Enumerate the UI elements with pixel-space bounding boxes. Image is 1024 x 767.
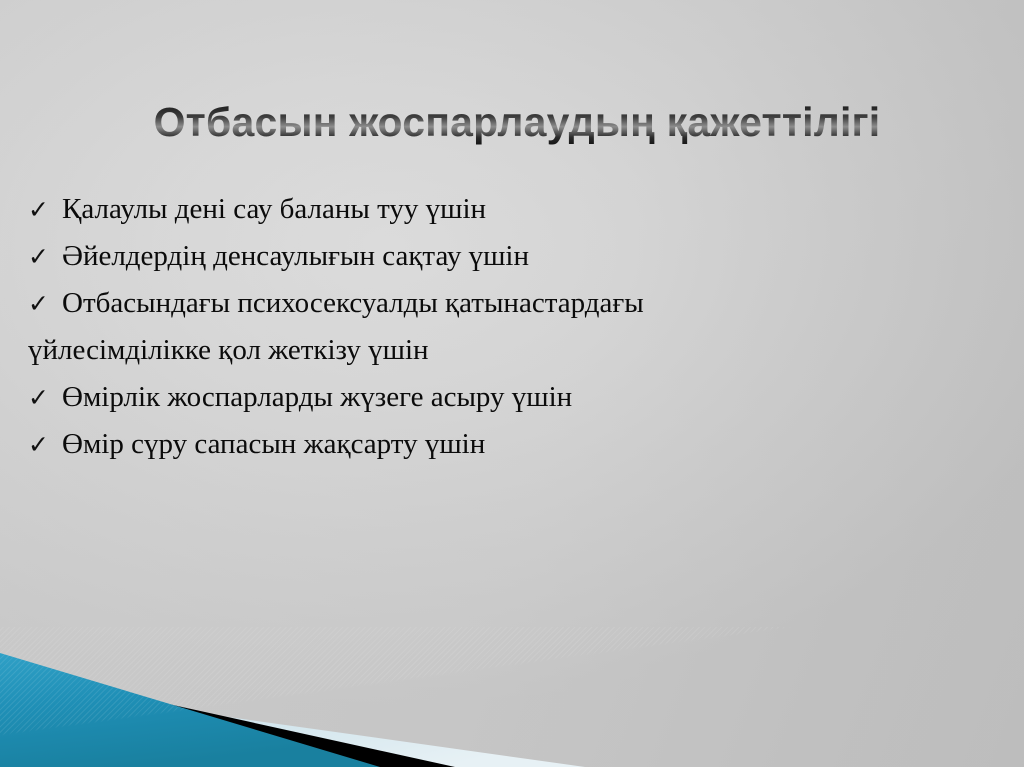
check-icon: ✓ bbox=[28, 233, 62, 280]
list-item-continuation: үйлесімділікке қол жеткізу үшін bbox=[28, 327, 988, 374]
list-item: ✓Отбасындағы психосексуалды қатынастарда… bbox=[28, 280, 988, 327]
pale-blue-wedge-shape bbox=[0, 685, 585, 767]
slide-canvas: Отбасын жоспарлаудың қажеттілігі ✓Қалаул… bbox=[0, 0, 1024, 767]
list-item-label-continued: үйлесімділікке қол жеткізу үшін bbox=[28, 334, 429, 366]
page-title: Отбасын жоспарлаудың қажеттілігі bbox=[52, 92, 982, 152]
check-icon: ✓ bbox=[28, 186, 62, 233]
list-item-label: Қалаулы дені сау баланы туу үшін bbox=[62, 193, 486, 225]
list-item: ✓Өмірлік жоспарларды жүзеге асыру үшін bbox=[28, 374, 988, 421]
list-item: ✓Әйелдердің денсаулығын сақтау үшін bbox=[28, 233, 988, 280]
list-item: ✓Қалаулы дені сау баланы туу үшін bbox=[28, 186, 988, 233]
black-diagonal-stripe bbox=[0, 667, 455, 767]
check-icon: ✓ bbox=[28, 374, 62, 421]
content-placeholder: ✓Қалаулы дені сау баланы туу үшін ✓Әйелд… bbox=[28, 186, 988, 468]
footer-decoration bbox=[0, 627, 1024, 767]
title-placeholder: Отбасын жоспарлаудың қажеттілігі bbox=[52, 92, 982, 154]
list-item-label: Әйелдердің денсаулығын сақтау үшін bbox=[62, 240, 529, 272]
check-icon: ✓ bbox=[28, 421, 62, 468]
list-item-label: Өмір сүру сапасын жақсарту үшін bbox=[62, 428, 485, 460]
teal-wedge-shape bbox=[0, 653, 380, 767]
list-item-label: Өмірлік жоспарларды жүзеге асыру үшін bbox=[62, 381, 572, 413]
list-item: ✓Өмір сүру сапасын жақсарту үшін bbox=[28, 421, 988, 468]
check-icon: ✓ bbox=[28, 280, 62, 327]
teal-texture-overlay bbox=[0, 627, 1024, 767]
list-item-label: Отбасындағы психосексуалды қатынастардағ… bbox=[62, 287, 644, 319]
